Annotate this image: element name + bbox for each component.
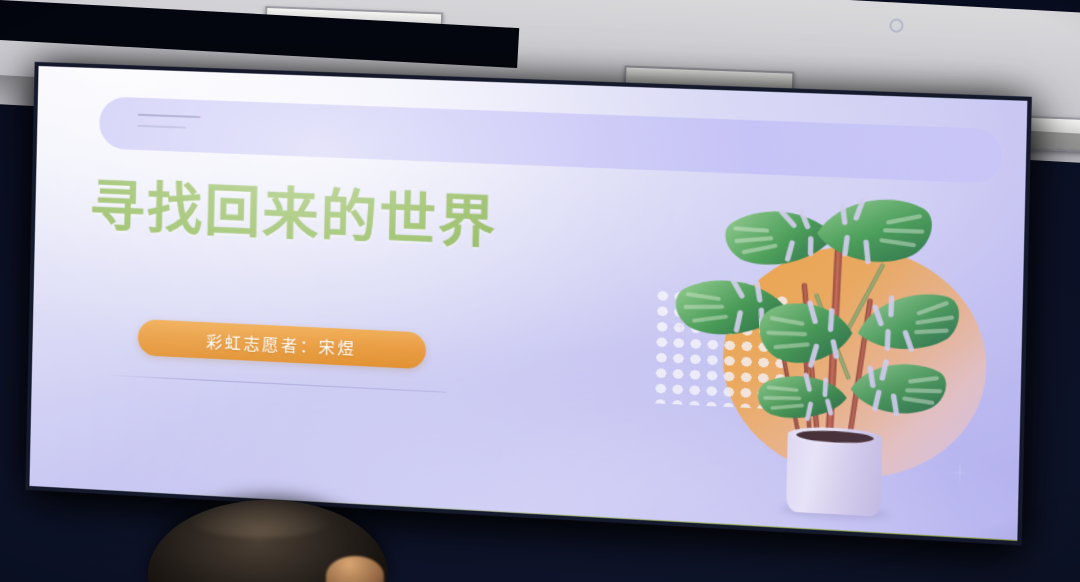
speaker-badge: 彩虹志愿者：宋煜 [138, 319, 427, 369]
plant-pot [786, 433, 882, 517]
monstera-leaf-center [754, 295, 861, 372]
slide-title: 寻找回来的世界 [89, 176, 498, 252]
speaker-badge-label: 彩虹志愿者：宋煜 [206, 328, 357, 360]
audience-member-hair-highlight [186, 498, 336, 538]
smoke-sensor-icon [889, 18, 904, 33]
slide-divider [110, 375, 447, 393]
presentation-slide: 寻找回来的世界 彩虹志愿者：宋煜 [29, 66, 1027, 541]
plant-illustration [635, 180, 1026, 541]
monstera-leaf-right-upper [850, 288, 968, 357]
monstera-leaf-right-lower [844, 353, 953, 423]
room-scene: 寻找回来的世界 彩虹志愿者：宋煜 [0, 0, 1080, 582]
projection-screen[interactable]: 寻找回来的世界 彩虹志愿者：宋煜 [29, 66, 1027, 541]
slide-top-bar [99, 96, 1003, 184]
monstera-leaf-bottom-left [750, 371, 852, 424]
